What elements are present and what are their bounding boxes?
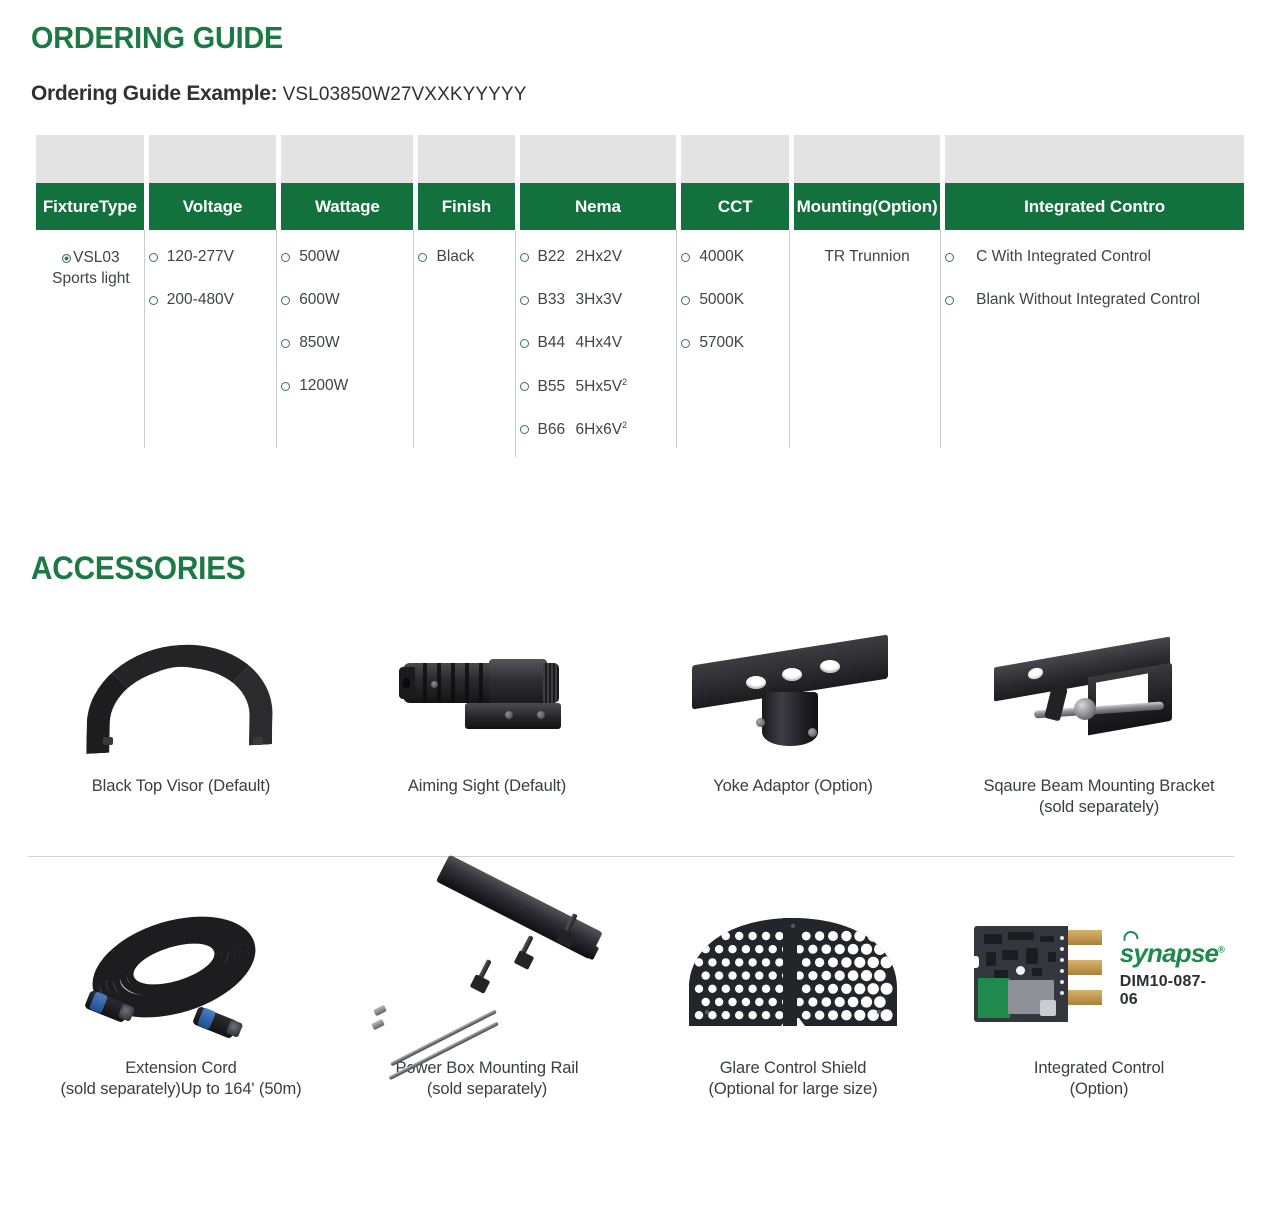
accessories-row-2: Extension Cord (sold separately)Up to 16… <box>28 890 1252 1100</box>
table-column-band-voltage <box>149 135 276 183</box>
option-finish[interactable]: Black <box>418 248 514 291</box>
option-label: B333Hx3V <box>538 291 623 309</box>
option-footnote-marker: 2 <box>622 377 627 387</box>
radio-icon[interactable] <box>281 382 290 391</box>
option-label: B222Hx2V <box>538 248 623 266</box>
table-header-cct: CCT <box>681 183 789 230</box>
page-title-accessories: ACCESSORIES <box>31 550 246 587</box>
synapse-wordmark: synapse <box>1120 938 1218 968</box>
page-title-ordering-guide: ORDERING GUIDE <box>31 20 283 56</box>
integrated-control-image: synapse®DIM10-087-06 <box>974 914 1224 1034</box>
option-voltage[interactable]: 120-277V <box>149 248 276 291</box>
fixture-type-option[interactable]: VSL03Sports light <box>36 248 144 290</box>
option-text: 850W <box>299 334 340 351</box>
option-label: Black <box>436 248 474 266</box>
option-label: 120-277V <box>167 248 234 266</box>
option-label: Blank Without Integrated Control <box>976 291 1200 309</box>
square-beam-mounting-bracket-image <box>992 632 1206 752</box>
accessory-image-aiming-sight <box>334 608 640 776</box>
table-column-band-cct <box>681 135 789 183</box>
table-column-voltage: Voltage120-277V200-480V <box>149 135 276 454</box>
radio-icon[interactable] <box>681 339 690 348</box>
accessory-image-black-top-visor <box>28 608 334 776</box>
option-label: B444Hx4V <box>538 334 623 352</box>
option-text: 6Hx6V <box>576 421 623 438</box>
radio-icon[interactable] <box>62 254 71 263</box>
option-text: 600W <box>299 291 340 308</box>
table-column-band-finish <box>418 135 514 183</box>
ordering-guide-example-label: Ordering Guide Example: <box>31 82 277 105</box>
table-header-line: (Option) <box>872 198 937 216</box>
table-header-line: Finish <box>442 198 491 216</box>
table-header-nema: Nema <box>520 183 677 230</box>
option-label: C With Integrated Control <box>976 248 1151 266</box>
option-code: B22 <box>538 248 576 266</box>
accessory-caption: Integrated Control (Option) <box>1034 1058 1164 1100</box>
synapse-branding: synapse®DIM10-087-06 <box>1120 940 1224 1009</box>
option-footnote-marker: 2 <box>622 420 627 430</box>
accessory-item: Sqaure Beam Mounting Bracket (sold separ… <box>946 608 1252 818</box>
radio-icon[interactable] <box>149 296 158 305</box>
table-column-band-nema <box>520 135 677 183</box>
accessory-item: Black Top Visor (Default) <box>28 608 334 818</box>
accessory-item: Yoke Adaptor (Option) <box>640 608 946 818</box>
option-code: B55 <box>538 378 576 396</box>
accessory-image-yoke-adaptor <box>640 608 946 776</box>
option-text: 3Hx3V <box>576 291 623 308</box>
radio-icon[interactable] <box>520 296 529 305</box>
ordering-guide-example-value: VSL03850W27VXXKYYYYY <box>283 84 527 105</box>
option-label: 4000K <box>699 248 744 266</box>
option-wattage[interactable]: 850W <box>281 334 413 377</box>
table-header-line: Nema <box>575 198 621 216</box>
table-cell-mounting: TR Trunnion <box>794 230 940 454</box>
table-header-fixture_type: FixtureType <box>36 183 144 230</box>
table-header-integrated_control: Integrated Contro <box>945 183 1244 230</box>
option-text: Black <box>436 248 474 265</box>
option-code: B33 <box>538 291 576 309</box>
ordering-guide-table: FixtureTypeVSL03Sports lightVoltage120-2… <box>36 135 1244 463</box>
table-column-integrated_control: Integrated ControC With Integrated Contr… <box>945 135 1244 454</box>
accessory-item: Glare Control Shield (Optional for large… <box>640 890 946 1100</box>
option-integrated_control[interactable]: C With Integrated Control <box>945 248 1244 291</box>
accessory-image-square-beam-mounting-bracket <box>946 608 1252 776</box>
black-top-visor-image <box>81 637 281 747</box>
option-nema[interactable]: B666Hx6V2 <box>520 420 677 463</box>
mounting-option-value: TR Trunnion <box>794 248 940 266</box>
option-label: 5000K <box>699 291 744 309</box>
radio-icon[interactable] <box>418 253 427 262</box>
option-nema[interactable]: B555Hx5V2 <box>520 377 677 420</box>
table-cell-fixture_type: VSL03Sports light <box>36 230 144 454</box>
radio-icon[interactable] <box>281 296 290 305</box>
option-text: C With Integrated Control <box>976 248 1151 265</box>
option-text: 200-480V <box>167 291 234 308</box>
radio-icon[interactable] <box>149 253 158 262</box>
option-code: B66 <box>538 421 576 439</box>
table-column-nema: NemaB222Hx2VB333Hx3VB444Hx4VB555Hx5V2B66… <box>520 135 677 463</box>
option-label: 5700K <box>699 334 744 352</box>
radio-icon[interactable] <box>281 339 290 348</box>
accessories-row-1: Black Top Visor (Default)Aiming Sight (D… <box>28 608 1252 818</box>
glare-control-shield-svg <box>683 914 903 1032</box>
radio-icon[interactable] <box>681 253 690 262</box>
table-column-mounting: Mounting(Option)TR Trunnion <box>794 135 940 454</box>
radio-icon[interactable] <box>520 382 529 391</box>
pcb-board <box>974 926 1068 1022</box>
table-column-finish: FinishBlack <box>418 135 514 454</box>
option-label: 500W <box>299 248 340 266</box>
accessory-image-glare-control-shield <box>640 890 946 1058</box>
radio-icon[interactable] <box>945 296 954 305</box>
table-cell-cct: 4000K5000K5700K <box>681 230 789 454</box>
option-text: 5Hx5V <box>576 378 623 395</box>
table-header-wattage: Wattage <box>281 183 413 230</box>
accessory-caption: Sqaure Beam Mounting Bracket (sold separ… <box>983 776 1214 818</box>
registered-trademark-icon: ® <box>1218 944 1224 954</box>
table-column-wattage: Wattage500W600W850W1200W <box>281 135 413 454</box>
option-text: 4000K <box>699 248 744 265</box>
table-column-fixture_type: FixtureTypeVSL03Sports light <box>36 135 144 454</box>
option-text: Blank Without Integrated Control <box>976 291 1200 308</box>
power-box-mounting-rail-image <box>372 909 602 1039</box>
table-header-line: Mounting <box>797 198 873 216</box>
table-column-band-wattage <box>281 135 413 183</box>
radio-icon[interactable] <box>520 339 529 348</box>
table-column-band-mounting <box>794 135 940 183</box>
yoke-adaptor-image <box>688 632 898 752</box>
option-label: B666Hx6V2 <box>538 420 628 439</box>
option-label: B555Hx5V2 <box>538 377 628 396</box>
accessory-item: Aiming Sight (Default) <box>334 608 640 818</box>
table-cell-wattage: 500W600W850W1200W <box>281 230 413 454</box>
option-text: 4Hx4V <box>576 334 623 351</box>
option-cct[interactable]: 5700K <box>681 334 789 377</box>
radio-icon[interactable] <box>945 253 954 262</box>
accessory-image-power-box-mounting-rail <box>334 890 640 1058</box>
accessory-caption: Black Top Visor (Default) <box>92 776 270 797</box>
accessory-item: Extension Cord (sold separately)Up to 16… <box>28 890 334 1100</box>
table-cell-integrated_control: C With Integrated ControlBlank Without I… <box>945 230 1244 454</box>
table-header-line: Fixture <box>43 198 99 216</box>
table-header-line: Type <box>99 198 137 216</box>
option-label: 850W <box>299 334 340 352</box>
radio-icon[interactable] <box>520 425 529 434</box>
accessory-image-extension-cord <box>28 890 334 1058</box>
option-wattage[interactable]: 500W <box>281 248 413 291</box>
fixture-type-code: VSL03 <box>73 248 120 269</box>
synapse-part-number: DIM10-087-06 <box>1120 973 1224 1009</box>
table-header-line: Voltage <box>183 198 242 216</box>
glare-control-shield-image <box>683 914 903 1034</box>
table-column-cct: CCT4000K5000K5700K <box>681 135 789 454</box>
table-header-line: Integrated Contro <box>1024 198 1165 216</box>
table-header-mounting: Mounting(Option) <box>794 183 940 230</box>
table-column-band-fixture_type <box>36 135 144 183</box>
fixture-type-desc: Sports light <box>38 269 144 290</box>
option-text: 120-277V <box>167 248 234 265</box>
accessory-item: Power Box Mounting Rail (sold separately… <box>334 890 640 1100</box>
radio-icon[interactable] <box>520 253 529 262</box>
option-wattage[interactable]: 1200W <box>281 377 413 420</box>
option-nema[interactable]: B444Hx4V <box>520 334 677 377</box>
table-header-line: CCT <box>718 198 753 216</box>
table-cell-finish: Black <box>418 230 514 454</box>
accessory-caption: Extension Cord (sold separately)Up to 16… <box>60 1058 301 1100</box>
option-wattage[interactable]: 600W <box>281 291 413 334</box>
accessory-image-integrated-control: synapse®DIM10-087-06 <box>946 890 1252 1058</box>
option-text: 5000K <box>699 291 744 308</box>
table-header-line: Wattage <box>315 198 380 216</box>
accessory-caption: Glare Control Shield (Optional for large… <box>709 1058 878 1100</box>
option-cct[interactable]: 5000K <box>681 291 789 334</box>
table-column-band-integrated_control <box>945 135 1244 183</box>
accessory-caption: Power Box Mounting Rail (sold separately… <box>396 1058 579 1100</box>
option-integrated_control[interactable]: Blank Without Integrated Control <box>945 291 1244 334</box>
option-text: 2Hx2V <box>576 248 623 265</box>
option-text: 500W <box>299 248 340 265</box>
option-nema[interactable]: B333Hx3V <box>520 291 677 334</box>
option-text: 1200W <box>299 377 348 394</box>
accessories-divider <box>28 856 1234 857</box>
radio-icon[interactable] <box>281 253 290 262</box>
table-header-finish: Finish <box>418 183 514 230</box>
option-nema[interactable]: B222Hx2V <box>520 248 677 291</box>
pcb-edge-connector <box>1068 926 1098 1022</box>
accessory-caption: Yoke Adaptor (Option) <box>713 776 873 797</box>
option-label: 600W <box>299 291 340 309</box>
option-label: 1200W <box>299 377 348 395</box>
ordering-guide-example: Ordering Guide Example: VSL03850W27VXXKY… <box>31 82 526 106</box>
synapse-logo: synapse® <box>1120 940 1224 966</box>
option-cct[interactable]: 4000K <box>681 248 789 291</box>
option-code: B44 <box>538 334 576 352</box>
option-label: 200-480V <box>167 291 234 309</box>
radio-icon[interactable] <box>681 296 690 305</box>
extension-cord-image <box>76 909 286 1039</box>
option-voltage[interactable]: 200-480V <box>149 291 276 334</box>
accessory-item: synapse®DIM10-087-06Integrated Control (… <box>946 890 1252 1100</box>
option-text: 5700K <box>699 334 744 351</box>
accessory-caption: Aiming Sight (Default) <box>408 776 566 797</box>
aiming-sight-image <box>397 637 577 747</box>
table-cell-voltage: 120-277V200-480V <box>149 230 276 454</box>
table-cell-nema: B222Hx2VB333Hx3VB444Hx4VB555Hx5V2B666Hx6… <box>520 230 677 463</box>
table-header-voltage: Voltage <box>149 183 276 230</box>
